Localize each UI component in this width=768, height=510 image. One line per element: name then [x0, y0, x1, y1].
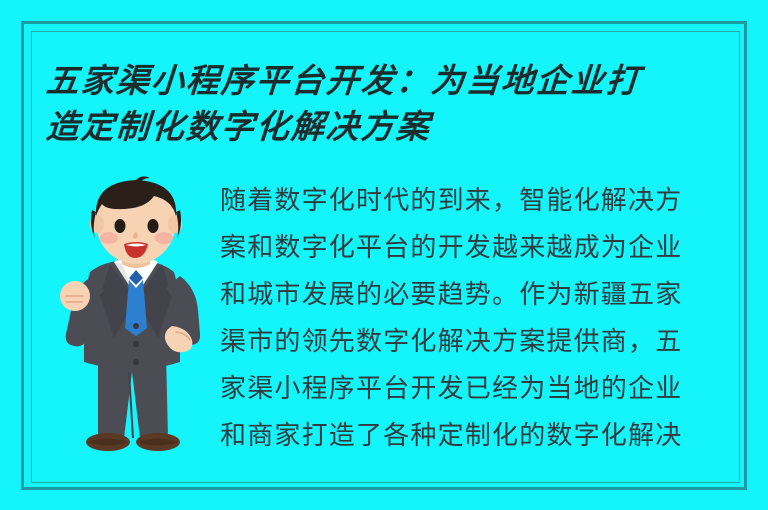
body-line-6: 和商家打造了各种定制化的数字化解决 — [220, 413, 732, 460]
title-line-1: 五家渠小程序平台开发：为当地企业打 — [44, 58, 737, 104]
body-line-2: 案和数字化平台的开发越来越成为企业 — [220, 225, 732, 272]
body-line-1: 随着数字化时代的到来，智能化解决方 — [220, 178, 732, 225]
page-title: 五家渠小程序平台开发：为当地企业打 造定制化数字化解决方案 — [46, 58, 736, 150]
body-line-4: 渠市的领先数字化解决方案提供商，五 — [220, 319, 732, 366]
body-line-3: 和城市发展的必要趋势。作为新疆五家 — [220, 272, 732, 319]
title-line-2: 造定制化数字化解决方案 — [44, 104, 737, 150]
body-paragraph: 随着数字化时代的到来，智能化解决方 案和数字化平台的开发越来越成为企业 和城市发… — [220, 178, 732, 460]
poster-canvas: 五家渠小程序平台开发：为当地企业打 造定制化数字化解决方案 — [0, 0, 768, 510]
body-line-5: 家渠小程序平台开发已经为当地的企业 — [220, 366, 732, 413]
cartoon-businessman-illustration — [52, 176, 220, 472]
